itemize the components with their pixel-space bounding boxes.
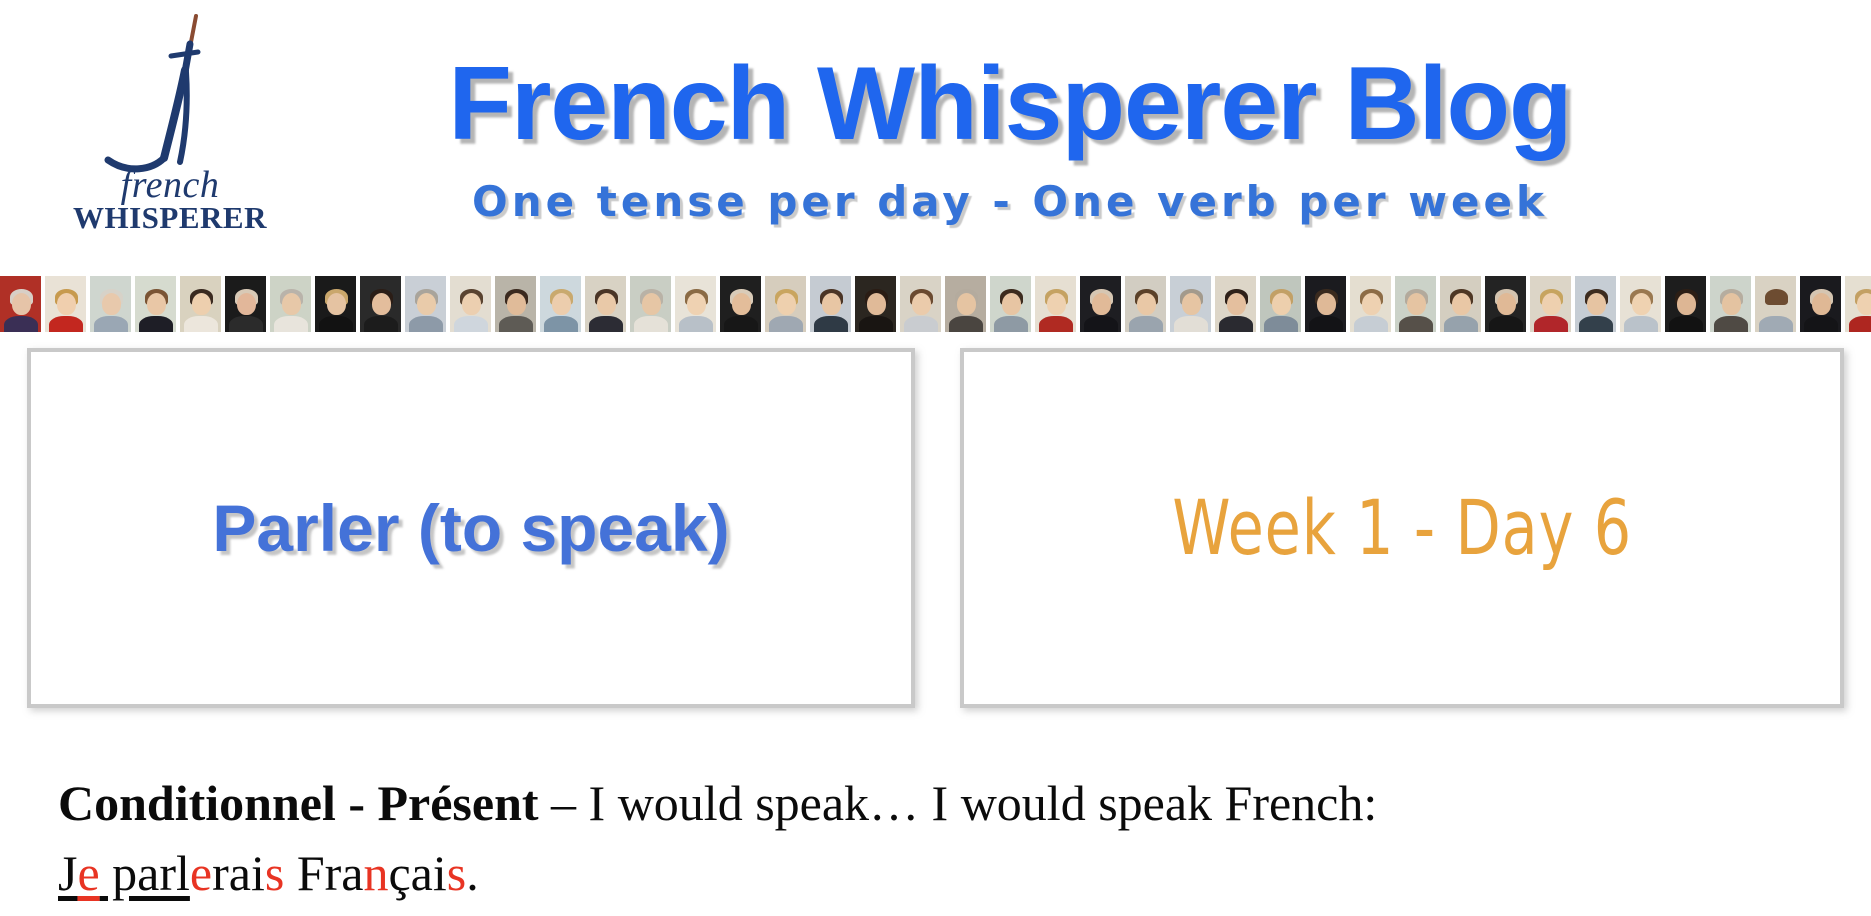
portrait-thumbnail — [855, 276, 896, 332]
week-card[interactable]: Week 1 - Day 6 — [960, 348, 1844, 708]
portrait-thumbnail — [1575, 276, 1616, 332]
example-segment: e — [190, 845, 212, 901]
portrait-thumbnail — [945, 276, 986, 332]
portrait-thumbnail — [225, 276, 266, 332]
portrait-thumbnail — [90, 276, 131, 332]
verb-card-label: Parler (to speak) — [212, 492, 729, 564]
portrait-thumbnail — [900, 276, 941, 332]
portrait-thumbnail — [1035, 276, 1076, 332]
portrait-thumbnail — [1755, 276, 1796, 332]
portrait-thumbnail — [270, 276, 311, 332]
portrait-thumbnail — [1440, 276, 1481, 332]
portrait-thumbnail — [1485, 276, 1526, 332]
lesson-line-tense: Conditionnel - Présent – I would speak… … — [58, 768, 1818, 838]
portrait-thumbnail — [585, 276, 626, 332]
portrait-thumbnail — [405, 276, 446, 332]
example-segment: n — [363, 845, 388, 901]
lesson-line-example: Je parlerais Français. — [58, 838, 1818, 908]
lesson-cards: Parler (to speak) Week 1 - Day 6 — [0, 348, 1871, 716]
portrait-thumbnail — [810, 276, 851, 332]
portrait-thumbnail — [1665, 276, 1706, 332]
verb-card[interactable]: Parler (to speak) — [27, 348, 915, 708]
portrait-thumbnail — [1395, 276, 1436, 332]
lesson-translation: I would speak… I would speak French: — [589, 775, 1378, 831]
portrait-thumbnail — [1350, 276, 1391, 332]
portrait-thumbnail — [990, 276, 1031, 332]
logo-word-french: french — [52, 166, 288, 204]
portrait-thumbnail — [540, 276, 581, 332]
portrait-thumbnail — [315, 276, 356, 332]
portrait-thumbnail — [1800, 276, 1841, 332]
lesson-text: Conditionnel - Présent – I would speak… … — [58, 768, 1818, 908]
portrait-thumbnail — [1530, 276, 1571, 332]
lesson-separator: – — [539, 775, 589, 831]
example-segment: J — [58, 845, 77, 901]
portrait-thumbnail — [720, 276, 761, 332]
portrait-thumbnail — [45, 276, 86, 332]
portrait-thumbnail — [1620, 276, 1661, 332]
portrait-thumbnail — [495, 276, 536, 332]
portrait-thumbnail — [1710, 276, 1751, 332]
portrait-thumbnail — [450, 276, 491, 332]
example-segment: s — [265, 845, 284, 901]
portrait-thumbnail — [135, 276, 176, 332]
portrait-thumbnail — [765, 276, 806, 332]
example-segment: çai — [388, 845, 446, 901]
portrait-thumbnail — [1215, 276, 1256, 332]
portrait-thumbnail — [1125, 276, 1166, 332]
portrait-thumbnail — [1170, 276, 1211, 332]
example-segment: e — [77, 845, 99, 901]
portrait-thumbnail — [0, 276, 41, 332]
portrait-thumbnail — [1305, 276, 1346, 332]
portrait-thumbnail — [360, 276, 401, 332]
student-portraits-strip — [0, 276, 1871, 332]
page-tagline: One tense per day - One verb per week — [300, 176, 1720, 228]
week-card-label: Week 1 - Day 6 — [1172, 487, 1632, 569]
page-header: french WHISPERER French Whisperer Blog O… — [0, 0, 1871, 268]
portrait-thumbnail — [1080, 276, 1121, 332]
portrait-thumbnail — [1260, 276, 1301, 332]
portrait-thumbnail — [180, 276, 221, 332]
logo-word-whisperer: WHISPERER — [52, 202, 288, 233]
tense-name: Conditionnel - Présent — [58, 775, 539, 831]
example-segment: parl — [100, 845, 190, 901]
example-segment: rai — [212, 845, 265, 901]
eiffel-tower-icon — [46, 8, 286, 178]
example-segment: s — [447, 845, 466, 901]
portrait-thumbnail — [630, 276, 671, 332]
portrait-thumbnail — [1845, 276, 1871, 332]
site-logo[interactable]: french WHISPERER — [46, 8, 286, 238]
example-segment: Fra — [284, 845, 363, 901]
example-segment: . — [466, 845, 479, 901]
page-title: French Whisperer Blog — [300, 48, 1720, 160]
portrait-thumbnail — [675, 276, 716, 332]
